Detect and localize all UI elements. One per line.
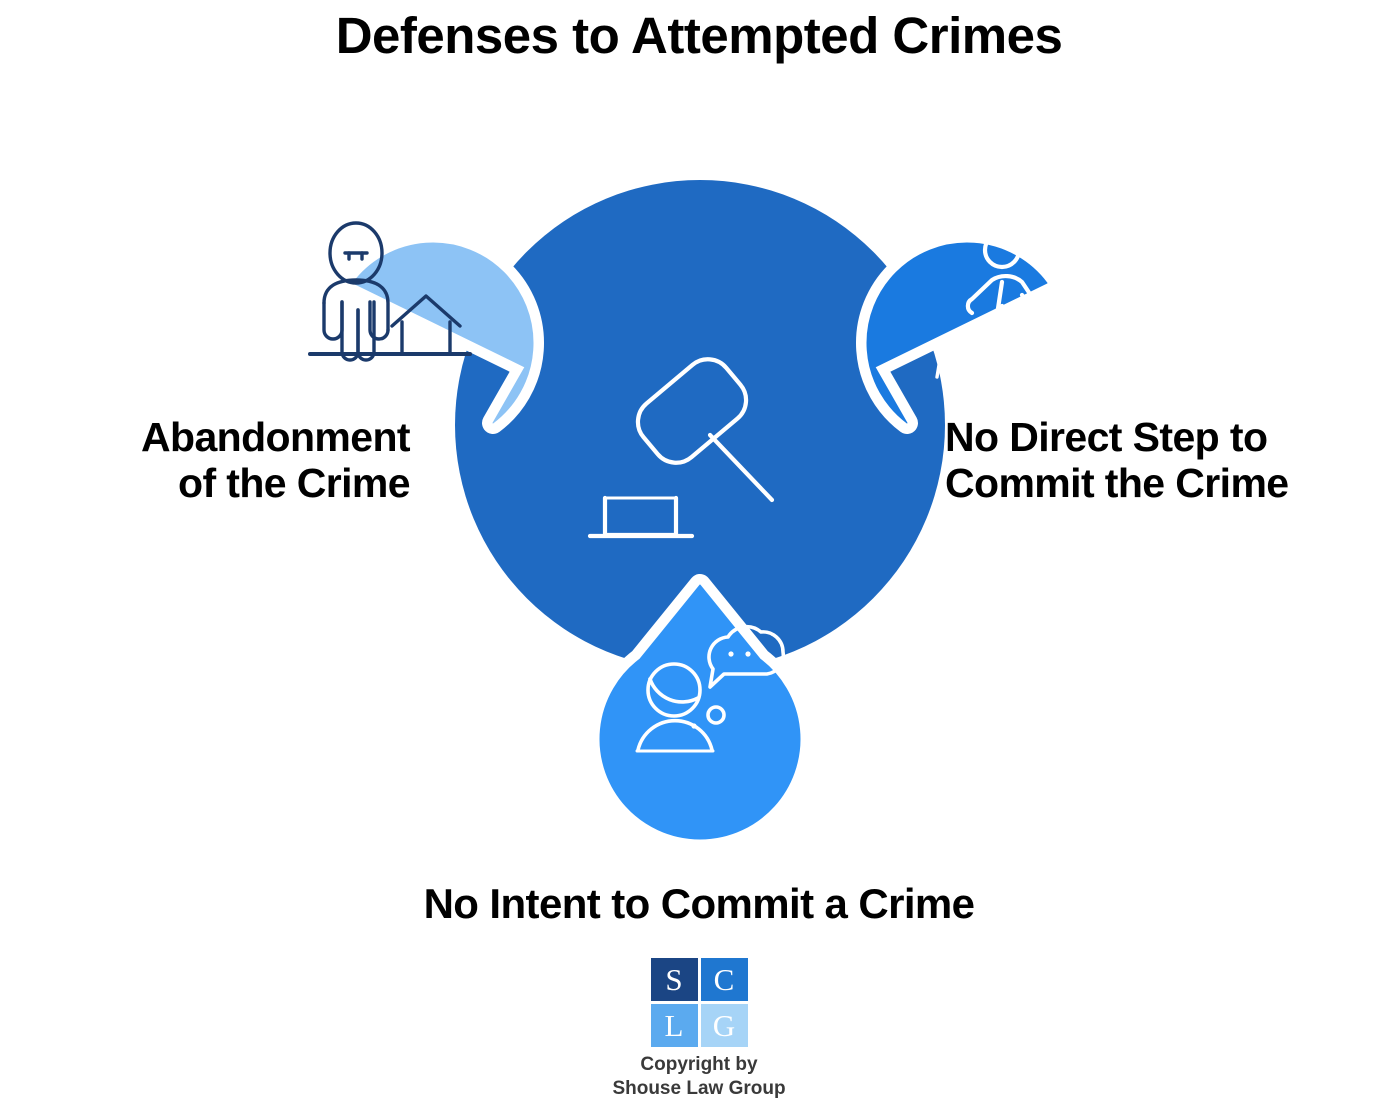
logo-cell-s: S: [651, 958, 698, 1001]
label-no-intent: No Intent to Commit a Crime: [0, 880, 1398, 927]
label-abandonment-line1: Abandonment: [20, 415, 410, 461]
shouse-law-group-logo: S C L G: [651, 958, 748, 1047]
logo-cell-g: G: [701, 1004, 748, 1047]
label-abandonment-line2: of the Crime: [20, 461, 410, 507]
label-no-direct-step-line2: Commit the Crime: [945, 461, 1395, 507]
page-title: Defenses to Attempted Crimes: [0, 8, 1398, 64]
copyright-line2: Shouse Law Group: [0, 1077, 1398, 1101]
copyright-line1: Copyright by: [0, 1053, 1398, 1077]
label-abandonment: Abandonment of the Crime: [20, 415, 410, 507]
logo-block: S C L G Copyright by Shouse Law Group: [0, 958, 1398, 1101]
label-no-direct-step: No Direct Step to Commit the Crime: [945, 415, 1395, 507]
copyright-text: Copyright by Shouse Law Group: [0, 1053, 1398, 1101]
logo-cell-l: L: [651, 1004, 698, 1047]
logo-cell-c: C: [701, 958, 748, 1001]
defenses-diagram: [280, 170, 1120, 850]
label-no-direct-step-line1: No Direct Step to: [945, 415, 1395, 461]
bubble-no-direct-step[interactable]: [867, 233, 1065, 423]
infographic-canvas: Defenses to Attempted Crimes: [0, 0, 1398, 1114]
bubble-abandonment[interactable]: [310, 223, 533, 423]
